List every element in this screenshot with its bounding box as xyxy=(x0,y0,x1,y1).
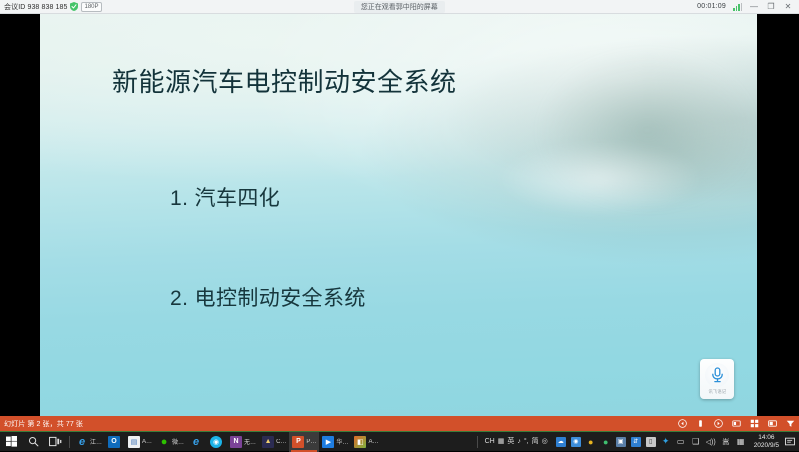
taskbar-divider xyxy=(69,436,70,448)
photo-viewer-icon: ▲ xyxy=(262,436,274,448)
powerpoint-icon: P xyxy=(292,436,304,448)
tray-volume-icon[interactable]: ◁)) xyxy=(706,437,716,447)
previous-slide-button[interactable] xyxy=(678,419,687,428)
tray-battery-app-icon[interactable]: ▯ xyxy=(646,437,656,447)
taskbar-app-label: 华… xyxy=(336,437,348,446)
video-quality-badge[interactable]: 180P xyxy=(81,2,101,12)
system-tray: CH ▦ 英 ♪ °, 简 ◎ ☁ ◉ ● ● ▣ ⇵ ▯ ✦ ▭ ❑ ◁)) … xyxy=(474,432,799,452)
taskbar-app-tencent-meeting[interactable]: ▶ 华… xyxy=(319,432,351,452)
next-slide-button[interactable] xyxy=(714,419,723,428)
taskbar-app-label: A… xyxy=(368,439,378,445)
tray-green-app-icon[interactable]: ● xyxy=(601,437,611,447)
ime-tone-icon[interactable]: ♪ xyxy=(517,437,521,447)
wechat-icon: ● xyxy=(158,436,170,448)
notification-icon[interactable] xyxy=(783,432,797,452)
tray-update-icon[interactable]: ● xyxy=(586,437,596,447)
internet-explorer-icon: e xyxy=(190,436,202,448)
clock-time: 14:06 xyxy=(758,434,774,442)
tray-security-icon[interactable]: ▣ xyxy=(616,437,626,447)
more-options-button[interactable] xyxy=(786,419,795,428)
sharing-notice-label: 您正在观看郭中阳的屏幕 xyxy=(354,1,445,13)
ime-toolbar[interactable]: CH ▦ 英 ♪ °, 简 ◎ xyxy=(481,437,552,447)
outlook-icon: O xyxy=(108,436,120,448)
background-haze-decoration xyxy=(456,127,743,232)
meeting-top-bar: 会议ID 938 838 185 180P 您正在观看郭中阳的屏幕 00:01:… xyxy=(0,0,799,14)
taskbar-app-label: A… xyxy=(142,439,152,445)
windows-taskbar: e 江… O ▤ A… ● 微… e ◉ N 无… ▲ C… xyxy=(0,431,799,451)
search-icon[interactable] xyxy=(22,432,44,452)
microphone-icon[interactable] xyxy=(705,363,729,387)
tray-sync-icon[interactable]: ⇵ xyxy=(631,437,641,447)
taskbar-app-label: 微… xyxy=(172,437,184,446)
close-button[interactable]: ✕ xyxy=(783,2,793,11)
clock-date: 2020/9/5 xyxy=(754,442,779,450)
taskbar-app-wechat[interactable]: ● 微… xyxy=(155,432,187,452)
pen-tool-button[interactable] xyxy=(696,419,705,428)
taskbar-clock[interactable]: 14:06 2020/9/5 xyxy=(750,434,783,450)
screen-root: 会议ID 938 838 185 180P 您正在观看郭中阳的屏幕 00:01:… xyxy=(0,0,799,451)
slide-bullet-2: 2. 电控制动安全系统 xyxy=(170,282,366,312)
tray-divider xyxy=(477,436,478,448)
slide-title: 新能源汽车电控制动安全系统 xyxy=(112,62,457,99)
sharing-notice-group: 您正在观看郭中阳的屏幕 xyxy=(102,1,698,13)
voice-recorder-label: 讯飞语记 xyxy=(708,389,726,395)
tray-onedrive-icon[interactable]: ☁ xyxy=(556,437,566,447)
onenote-icon: N xyxy=(230,436,242,448)
powerpoint-slide[interactable]: 新能源汽车电控制动安全系统 1. 汽车四化 2. 电控制动安全系统 讯飞语记 xyxy=(40,14,757,416)
slide-counter-label: 幻灯片 第 2 张，共 77 张 xyxy=(4,419,83,429)
taskbar-app-onenote[interactable]: N 无… xyxy=(227,432,259,452)
tray-icons-group: ☁ ◉ ● ● ▣ ⇵ ▯ ✦ ▭ ❑ ◁)) 嵩 ▦ xyxy=(552,437,750,447)
background-mist-decoration xyxy=(456,30,757,239)
taskbar-app-internet-explorer[interactable]: e 江… xyxy=(73,432,105,452)
ime-settings-icon[interactable]: ◎ xyxy=(542,437,548,447)
elapsed-time-label: 00:01:09 xyxy=(697,3,726,10)
tray-network-icon[interactable]: ❑ xyxy=(691,437,701,447)
ime-language-indicator[interactable]: CH xyxy=(485,437,495,447)
taskbar-app-file-explorer[interactable]: ▤ A… xyxy=(125,432,155,452)
taskbar-app-powerpoint[interactable]: P P… xyxy=(289,432,319,452)
powerpoint-status-bar: 幻灯片 第 2 张，共 77 张 xyxy=(0,416,799,431)
slide-bullet-1: 1. 汽车四化 xyxy=(170,182,366,212)
meeting-info-group: 会议ID 938 838 185 180P xyxy=(0,2,102,12)
restore-button[interactable]: ❐ xyxy=(766,2,776,11)
window-controls-group: 00:01:09 — ❐ ✕ xyxy=(697,2,799,11)
all-slides-button[interactable] xyxy=(732,419,741,428)
taskbar-app-label: C… xyxy=(276,439,286,445)
file-explorer-icon: ▤ xyxy=(128,436,140,448)
tencent-meeting-icon: ▶ xyxy=(322,436,334,448)
shield-icon[interactable] xyxy=(70,2,78,11)
tray-battery-icon[interactable]: ▭ xyxy=(676,437,686,447)
zoom-in-button[interactable] xyxy=(750,419,759,428)
presenter-view-button[interactable] xyxy=(768,419,777,428)
taskbar-app-qq-browser[interactable]: ◉ xyxy=(207,432,227,452)
taskbar-app-label: 无… xyxy=(244,437,256,446)
slideshow-controls-group xyxy=(678,419,795,428)
meeting-id-label: 会议ID 938 838 185 xyxy=(4,2,67,12)
qq-browser-icon: ◉ xyxy=(210,436,222,448)
taskbar-app-outlook[interactable]: O xyxy=(105,432,125,452)
tray-keyboard-icon[interactable]: ▦ xyxy=(736,437,746,447)
ime-simplified-icon[interactable]: 简 xyxy=(532,437,539,447)
tray-ime-extra-icon[interactable]: 嵩 xyxy=(721,437,731,447)
taskbar-app-internet-explorer-2[interactable]: e xyxy=(187,432,207,452)
signal-bars-icon xyxy=(733,3,742,11)
taskbar-app-label: P… xyxy=(306,439,316,445)
ime-keyboard-icon[interactable]: ▦ xyxy=(498,437,505,447)
shared-screen-stage: 新能源汽车电控制动安全系统 1. 汽车四化 2. 电控制动安全系统 讯飞语记 xyxy=(0,14,799,416)
taskbar-app-label: 江… xyxy=(90,437,102,446)
ime-mode-icon[interactable]: 英 xyxy=(507,437,514,447)
voice-recorder-widget[interactable]: 讯飞语记 xyxy=(700,359,734,399)
minimize-button[interactable]: — xyxy=(749,2,759,11)
slide-bullet-list: 1. 汽车四化 2. 电控制动安全系统 xyxy=(170,182,366,312)
image-editor-icon: ◧ xyxy=(354,436,366,448)
tray-chrome-icon[interactable]: ◉ xyxy=(571,437,581,447)
tray-bluetooth-icon[interactable]: ✦ xyxy=(661,437,671,447)
task-view-icon[interactable] xyxy=(44,432,66,452)
taskbar-app-photo-viewer[interactable]: ▲ C… xyxy=(259,432,289,452)
taskbar-app-image-editor[interactable]: ◧ A… xyxy=(351,432,381,452)
ime-punctuation-icon[interactable]: °, xyxy=(524,437,529,447)
start-button[interactable] xyxy=(0,432,22,452)
internet-explorer-icon: e xyxy=(76,436,88,448)
